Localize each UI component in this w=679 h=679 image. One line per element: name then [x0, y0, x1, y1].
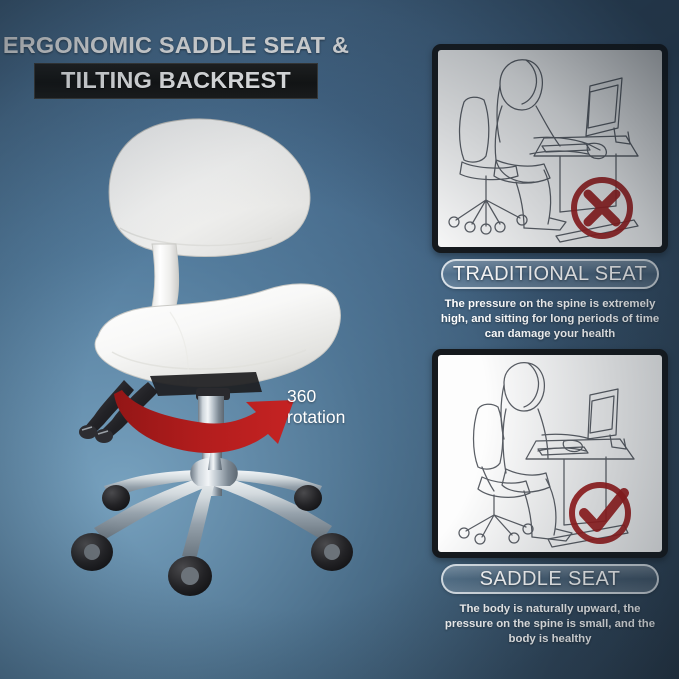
panel-saddle-seat: [432, 349, 668, 558]
rotation-unit: rotation: [287, 407, 407, 428]
caption-traditional-seat: The pressure on the spine is extremely h…: [436, 297, 664, 341]
label-text: TRADITIONAL SEAT: [453, 263, 647, 286]
approval-check-icon: [572, 485, 628, 541]
illustration-upright-posture: [438, 355, 662, 552]
rotation-value: 360: [287, 386, 407, 407]
label-traditional-seat: TRADITIONAL SEAT: [441, 259, 659, 289]
label-text: SADDLE SEAT: [480, 568, 621, 591]
label-saddle-seat: SADDLE SEAT: [441, 564, 659, 594]
prohibition-x-icon: [574, 180, 630, 236]
saddle-chair-illustration: [0, 0, 420, 679]
panel-traditional-seat: [432, 44, 668, 253]
chair-backrest: [109, 119, 310, 257]
illustration-hunched-posture: [438, 50, 662, 247]
caption-saddle-seat: The body is naturally upward, the pressu…: [436, 602, 664, 646]
rotation-label: 360 rotation: [287, 386, 407, 429]
chair-casters: [71, 485, 353, 596]
product-infographic: ERGONOMIC SADDLE SEAT & TILTING BACKREST: [0, 0, 679, 679]
